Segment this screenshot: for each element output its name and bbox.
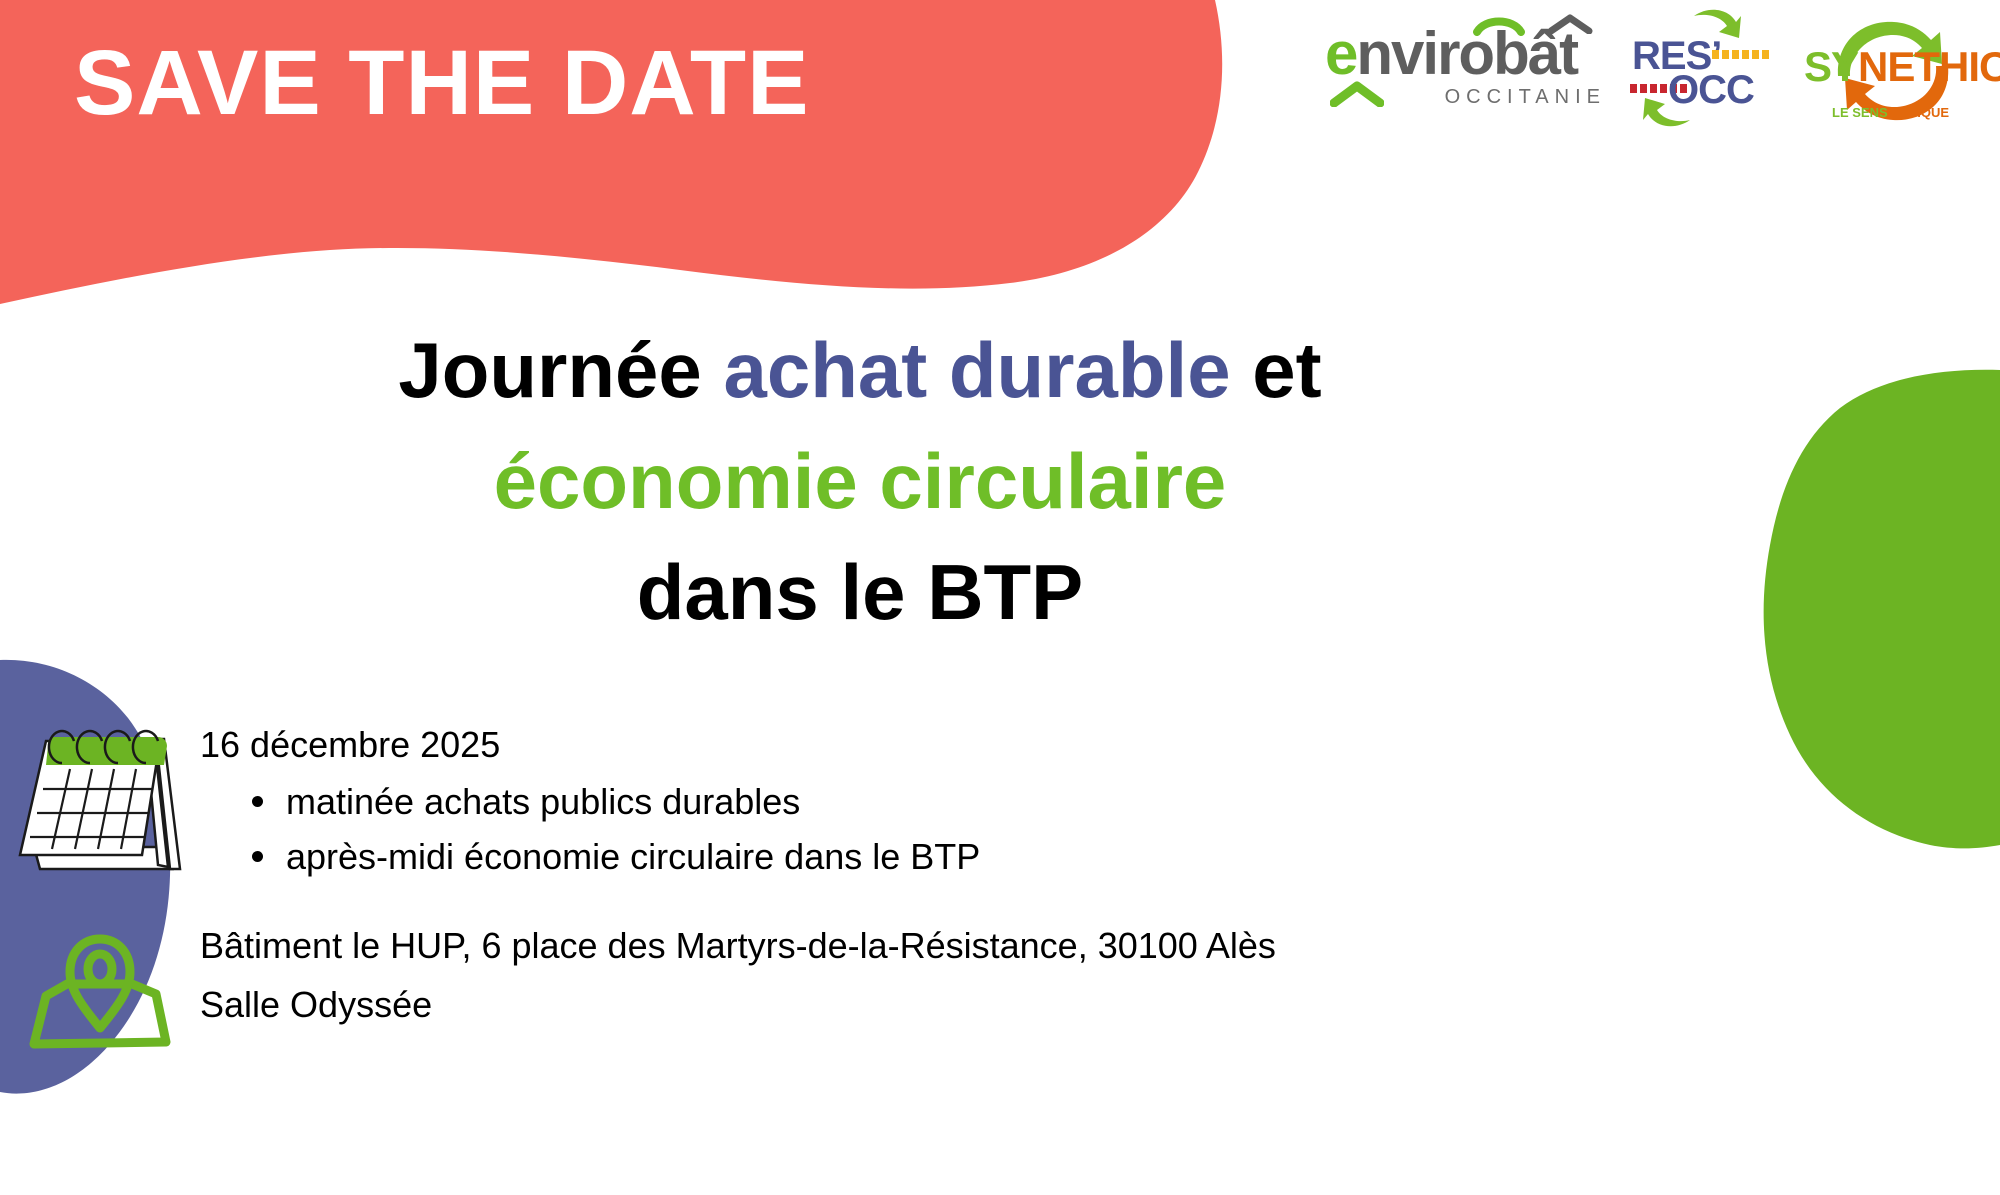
agenda-item-1: matinée achats publics durables [286, 776, 980, 827]
envirobat-word-rest: nvirobât [1356, 20, 1577, 87]
calendar-icon-wrap [0, 715, 200, 879]
event-title-line-1-part-3: et [1231, 326, 1322, 414]
calendar-icon [12, 719, 188, 879]
synethic-tagline-first: LE SENS [1832, 105, 1891, 120]
agenda-item-1-label: matinée achats publics durables [286, 781, 800, 822]
event-title-line-1-part-1: Journée [398, 326, 723, 414]
venue-text-block: Bâtiment le HUP, 6 place des Martyrs-de-… [200, 916, 1276, 1038]
agenda-item-2-label: après-midi économie circulaire dans le B… [286, 836, 980, 877]
map-pin-icon [20, 920, 180, 1055]
envirobat-circumflex-a-icon [1547, 14, 1593, 34]
synethic-word-first: SY [1804, 43, 1858, 90]
envirobat-swoosh-icon [1330, 81, 1384, 107]
event-date: 16 décembre 2025 [200, 719, 980, 770]
map-pin-icon-wrap [0, 916, 200, 1055]
agenda-item-2: après-midi économie circulaire dans le B… [286, 831, 980, 882]
synethic-wordmark: SYNETHIC [1804, 46, 2000, 88]
event-title: Journée achat durable et économie circul… [0, 315, 1720, 647]
synethic-word-rest: NETHIC [1858, 43, 2000, 90]
event-title-line-1-part-2: achat durable [723, 326, 1230, 414]
partner-logos: envirobât OCCITANIE RES’ [1325, 8, 1986, 128]
event-title-line-1: Journée achat durable et [0, 315, 1720, 426]
event-title-line-2: économie circulaire [0, 426, 1720, 537]
envirobat-wordmark: envirobât [1325, 24, 1610, 84]
bullet-icon [252, 796, 263, 807]
event-title-line-3: dans le BTP [0, 537, 1720, 648]
synethic-tagline: LE SENS ETHIQUE [1832, 105, 1949, 120]
venue-address-line-1: Bâtiment le HUP, 6 place des Martyrs-de-… [200, 920, 1276, 971]
save-the-date-title: SAVE THE DATE [74, 35, 809, 132]
logo-synethic: SYNETHIC LE SENS ETHIQUE [1796, 8, 1986, 128]
logo-resocc: RES’ OCC [1628, 8, 1778, 118]
resocc-arrow-bottom-icon [1642, 98, 1692, 128]
agenda-list: matinée achats publics durables après-mi… [200, 776, 980, 882]
synethic-tagline-rest: ETHIQUE [1891, 105, 1949, 120]
venue-row: Bâtiment le HUP, 6 place des Martyrs-de-… [0, 916, 2000, 1055]
bullet-icon [252, 851, 263, 862]
logo-envirobat-occitanie: envirobât OCCITANIE [1325, 8, 1610, 109]
envirobat-word-first: e [1325, 20, 1356, 87]
envirobat-circumflex-o-icon [1473, 14, 1525, 36]
event-details: 16 décembre 2025 matinée achats publics … [0, 715, 2000, 1055]
resocc-dashes-top [1712, 50, 1769, 59]
date-text-block: 16 décembre 2025 matinée achats publics … [200, 715, 980, 886]
date-row: 16 décembre 2025 matinée achats publics … [0, 715, 2000, 886]
venue-address-line-2: Salle Odyssée [200, 979, 1276, 1030]
save-the-date-poster: SAVE THE DATE envirobât OCCITANIE [0, 0, 2000, 1195]
